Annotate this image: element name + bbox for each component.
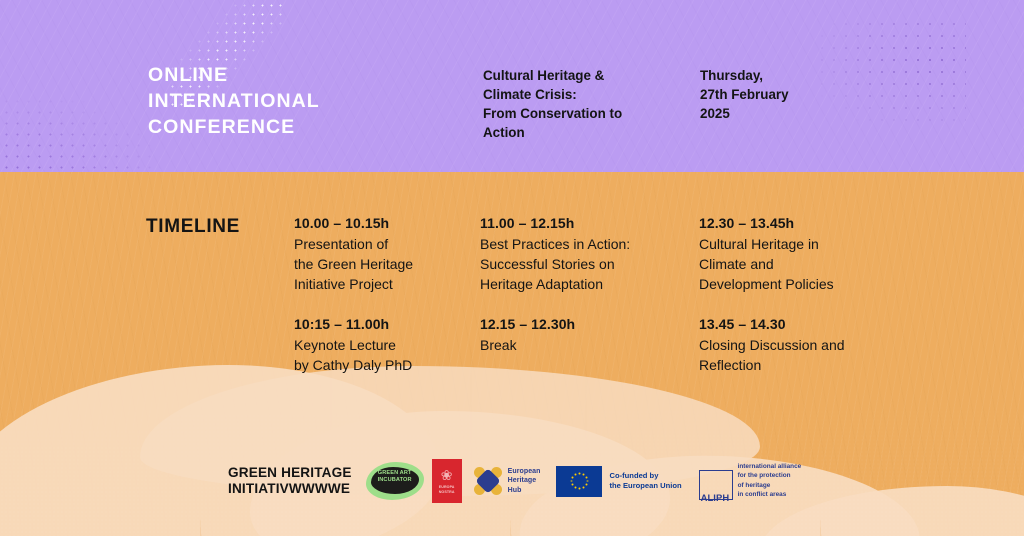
slot-description: Cultural Heritage in Climate and Develop…	[699, 234, 899, 294]
slot-time: 13.45 – 14.30	[699, 315, 899, 335]
conference-subtitle: Cultural Heritage & Climate Crisis: From…	[483, 66, 622, 142]
timeline-slot: 13.45 – 14.30 Closing Discussion and Ref…	[699, 315, 899, 375]
dot-cluster-top-right	[816, 18, 966, 128]
timeline-slot: 12.30 – 13.45h Cultural Heritage in Clim…	[699, 214, 899, 294]
timeline-slot: 12.15 – 12.30h Break	[480, 315, 685, 355]
co-funded-eu-logo: Co-funded by the European Union	[556, 466, 681, 497]
aliph-logo: ALIPH international alliance for the pro…	[699, 462, 802, 499]
co-funded-eu-label: Co-funded by the European Union	[609, 471, 681, 492]
timeline-column-2: 11.00 – 12.15h Best Practices in Action:…	[480, 214, 685, 355]
slot-time: 10:15 – 11.00h	[294, 315, 474, 335]
aliph-tagline: international alliance for the protectio…	[738, 462, 802, 499]
aliph-wordmark: ALIPH	[701, 492, 730, 503]
slot-time: 12.30 – 13.45h	[699, 214, 899, 234]
slot-time: 11.00 – 12.15h	[480, 214, 685, 234]
slot-description: Break	[480, 335, 685, 355]
european-heritage-hub-label: European Heritage Hub	[508, 467, 541, 495]
timeline-column-3: 12.30 – 13.45h Cultural Heritage in Clim…	[699, 214, 899, 376]
timeline-slot: 11.00 – 12.15h Best Practices in Action:…	[480, 214, 685, 294]
europa-nostra-label: EUROPA NOSTRA	[439, 485, 455, 494]
conference-poster: ONLINE INTERNATIONAL CONFERENCE Cultural…	[0, 0, 1024, 536]
star-emblem-icon: ❀	[439, 467, 455, 483]
timeline-slot: 10:15 – 11.00h Keynote Lecture by Cathy …	[294, 315, 474, 375]
eu-stars-icon	[571, 473, 588, 490]
timeline-slot: 10.00 – 10.15h Presentation of the Green…	[294, 214, 474, 294]
slot-description: Closing Discussion and Reflection	[699, 335, 899, 375]
green-art-incubator-logo: GREEN ART INCUBATOR	[364, 460, 426, 502]
europa-nostra-logo: ❀ EUROPA NOSTRA	[432, 459, 462, 503]
slot-time: 10.00 – 10.15h	[294, 214, 474, 234]
slot-description: Keynote Lecture by Cathy Daly PhD	[294, 335, 474, 375]
aliph-frame-icon: ALIPH	[699, 470, 733, 500]
slot-description: Best Practices in Action: Successful Sto…	[480, 234, 685, 294]
green-art-incubator-label: GREEN ART INCUBATOR	[373, 470, 417, 484]
green-heritage-initiative-logo: GREEN HERITAGE INITIATIVWWWWE	[228, 465, 352, 497]
timeline-heading: TIMELINE	[146, 216, 240, 238]
slot-description: Presentation of the Green Heritage Initi…	[294, 234, 474, 294]
european-heritage-hub-logo: European Heritage Hub	[474, 467, 541, 495]
eu-flag-icon	[556, 466, 602, 497]
slot-time: 12.15 – 12.30h	[480, 315, 685, 335]
conference-date: Thursday, 27th February 2025	[700, 66, 789, 123]
dot-cluster-bottom-left	[0, 96, 160, 172]
wash-blob	[0, 354, 445, 536]
page-title: ONLINE INTERNATIONAL CONFERENCE	[148, 62, 320, 140]
timeline-column-1: 10.00 – 10.15h Presentation of the Green…	[294, 214, 474, 376]
logo-row: GREEN HERITAGE INITIATIVWWWWE GREEN ART …	[228, 455, 801, 507]
hub-mark-icon	[474, 467, 502, 495]
